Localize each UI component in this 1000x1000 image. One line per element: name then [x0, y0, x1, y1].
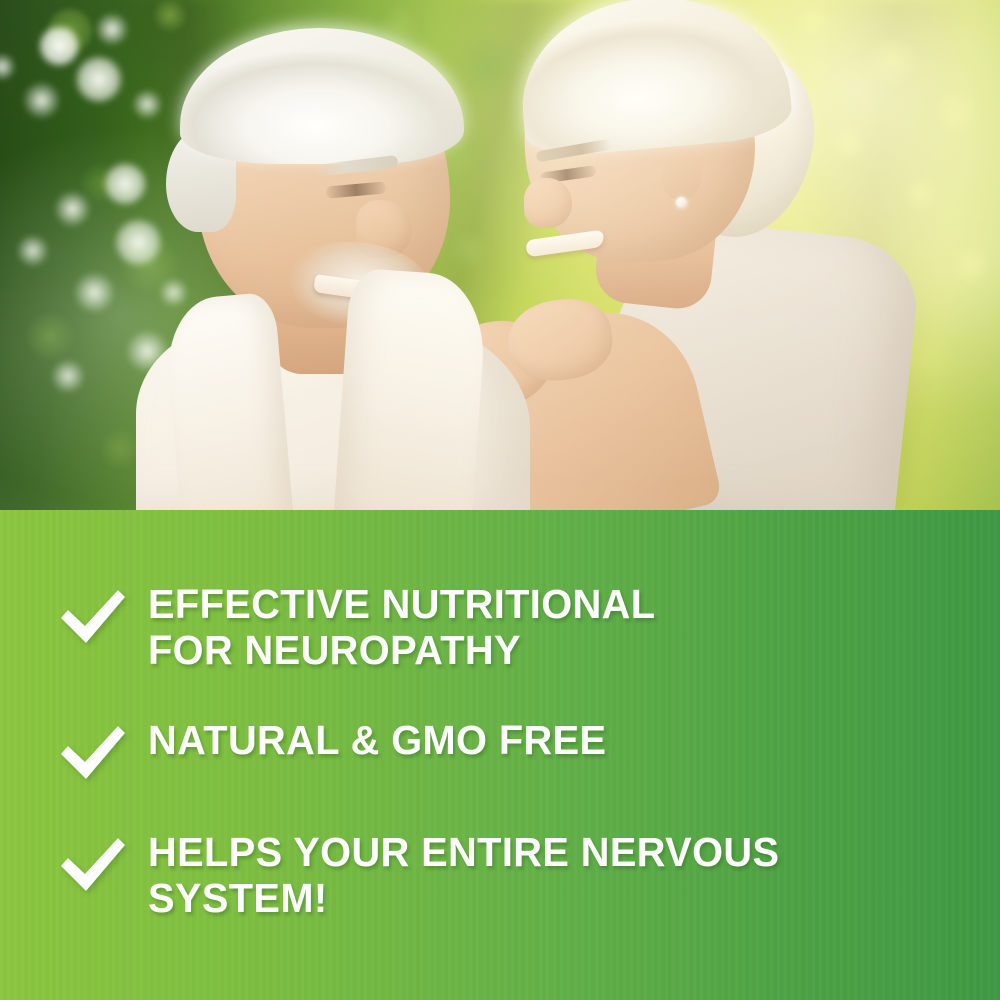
benefits-panel: EFFECTIVE NUTRITIONAL FOR NEUROPATHY NAT…: [0, 510, 1000, 1000]
elderly-man-figure: [118, 24, 548, 510]
benefit-label: HELPS YOUR ENTIRE NERVOUS SYSTEM!: [148, 830, 779, 922]
woman-earring: [676, 197, 687, 208]
benefit-item-natural-gmo-free: NATURAL & GMO FREE: [0, 718, 1000, 786]
check-icon: [58, 724, 128, 786]
benefit-label: EFFECTIVE NUTRITIONAL FOR NEUROPATHY: [148, 582, 655, 674]
man-towel-right: [333, 267, 488, 510]
check-icon: [58, 588, 128, 650]
woman-hair: [514, 0, 794, 159]
check-icon: [58, 836, 128, 898]
man-towel-left: [162, 292, 293, 510]
benefit-item-effective-nutritional: EFFECTIVE NUTRITIONAL FOR NEUROPATHY: [0, 582, 1000, 674]
woman-ear: [662, 144, 702, 200]
man-hair: [180, 28, 464, 164]
benefit-label: NATURAL & GMO FREE: [148, 718, 606, 764]
product-benefits-banner: EFFECTIVE NUTRITIONAL FOR NEUROPATHY NAT…: [0, 0, 1000, 1000]
benefits-list: EFFECTIVE NUTRITIONAL FOR NEUROPATHY NAT…: [0, 510, 1000, 922]
lifestyle-photo: [0, 0, 1000, 510]
benefit-item-helps-nervous-system: HELPS YOUR ENTIRE NERVOUS SYSTEM!: [0, 830, 1000, 922]
